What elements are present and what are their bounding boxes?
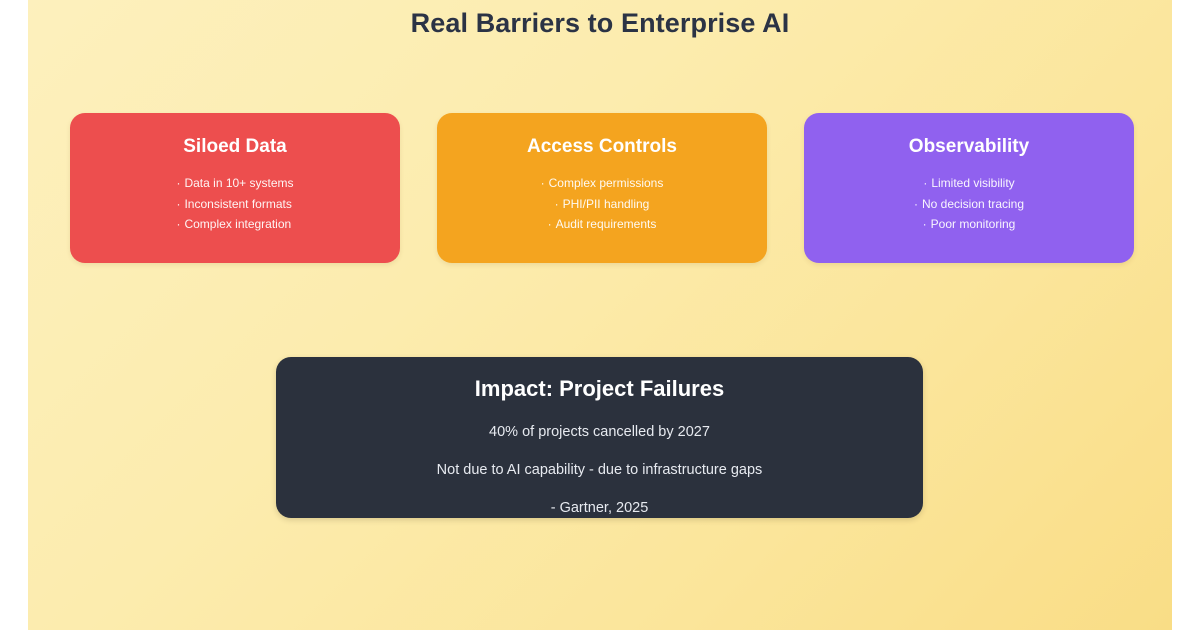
bullet-dot-icon: · <box>176 214 180 235</box>
barrier-card: Observability·Limited visibility·No deci… <box>804 113 1134 263</box>
barrier-bullet-item: ·PHI/PII handling <box>541 194 664 215</box>
barrier-card-row: Siloed Data·Data in 10+ systems·Inconsis… <box>70 113 1134 263</box>
impact-attribution: - Gartner, 2025 <box>551 498 649 518</box>
slide-root: Real Barriers to Enterprise AI Siloed Da… <box>0 0 1200 630</box>
barrier-bullet-label: Poor monitoring <box>931 217 1016 231</box>
bullet-dot-icon: · <box>923 173 927 194</box>
barrier-bullet-item: ·No decision tracing <box>914 194 1024 215</box>
barrier-card-title: Siloed Data <box>183 135 286 159</box>
barrier-card: Siloed Data·Data in 10+ systems·Inconsis… <box>70 113 400 263</box>
barrier-bullet-item: ·Audit requirements <box>541 214 664 235</box>
barrier-bullet-item: ·Complex integration <box>176 214 293 235</box>
impact-statement: 40% of projects cancelled by 2027 <box>437 422 763 442</box>
barrier-bullet-list: ·Limited visibility·No decision tracing·… <box>914 173 1024 235</box>
barrier-bullet-label: Data in 10+ systems <box>184 176 293 190</box>
barrier-bullet-list: ·Complex permissions·PHI/PII handling·Au… <box>541 173 664 235</box>
bullet-dot-icon: · <box>176 173 180 194</box>
bullet-dot-icon: · <box>555 194 559 215</box>
bullet-dot-icon: · <box>923 214 927 235</box>
barrier-bullet-item: ·Data in 10+ systems <box>176 173 293 194</box>
page-title: Real Barriers to Enterprise AI <box>28 6 1172 40</box>
barrier-bullet-label: Complex integration <box>184 217 291 231</box>
barrier-bullet-list: ·Data in 10+ systems·Inconsistent format… <box>176 173 293 235</box>
bullet-dot-icon: · <box>548 214 552 235</box>
barrier-bullet-label: PHI/PII handling <box>563 197 650 211</box>
bullet-dot-icon: · <box>914 194 918 215</box>
barrier-card-title: Access Controls <box>527 135 677 159</box>
impact-panel: Impact: Project Failures 40% of projects… <box>276 357 923 518</box>
barrier-card-title: Observability <box>909 135 1029 159</box>
barrier-bullet-item: ·Inconsistent formats <box>176 194 293 215</box>
impact-panel-title: Impact: Project Failures <box>475 375 724 403</box>
slide-canvas: Real Barriers to Enterprise AI Siloed Da… <box>28 0 1172 630</box>
barrier-bullet-label: Complex permissions <box>549 176 664 190</box>
barrier-bullet-item: ·Complex permissions <box>541 173 664 194</box>
bullet-dot-icon: · <box>176 194 180 215</box>
impact-panel-lines: 40% of projects cancelled by 2027Not due… <box>437 422 763 498</box>
impact-statement: Not due to AI capability - due to infras… <box>437 460 763 480</box>
barrier-bullet-label: Limited visibility <box>931 176 1014 190</box>
barrier-bullet-item: ·Poor monitoring <box>914 214 1024 235</box>
barrier-bullet-label: Inconsistent formats <box>184 197 291 211</box>
barrier-bullet-label: No decision tracing <box>922 197 1024 211</box>
bullet-dot-icon: · <box>541 173 545 194</box>
barrier-bullet-item: ·Limited visibility <box>914 173 1024 194</box>
barrier-card: Access Controls·Complex permissions·PHI/… <box>437 113 767 263</box>
barrier-bullet-label: Audit requirements <box>556 217 657 231</box>
